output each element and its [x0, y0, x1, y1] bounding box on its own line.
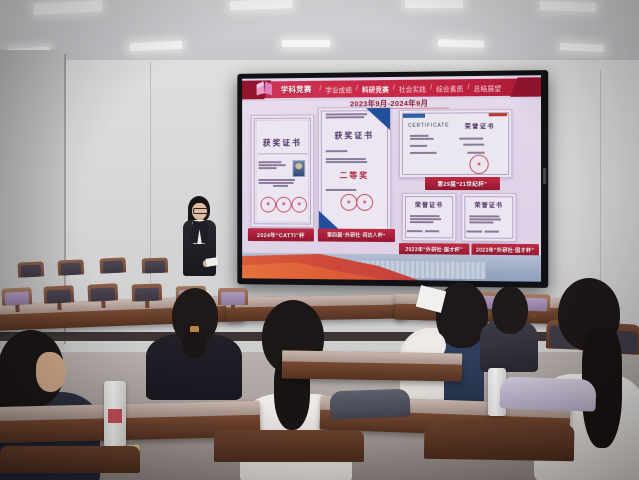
audience-member — [146, 288, 242, 398]
certificate-card: 获奖证书 二等奖 — [318, 107, 391, 234]
nav-separator: / — [319, 86, 321, 93]
certificate-card: 荣誉证书 — [402, 193, 456, 241]
ceiling-light — [560, 43, 604, 52]
wall-seam — [600, 70, 601, 290]
display-power-button[interactable] — [543, 168, 546, 184]
auditorium-chair[interactable] — [142, 258, 169, 280]
backpack — [330, 389, 411, 420]
ceiling-light — [282, 40, 330, 47]
official-seal — [356, 194, 373, 211]
display-panel: 学科竞赛 / 学业成绩 / 科研竞赛 / 社会实践 / 综合素质 / 总结展望 … — [242, 75, 541, 282]
wooden-chair[interactable] — [214, 430, 364, 480]
slide-nav: 学科竞赛 / 学业成绩 / 科研竞赛 / 社会实践 / 综合素质 / 总结展望 — [281, 80, 517, 97]
audience-member — [400, 290, 492, 410]
certificate-card: 荣誉证书 — [461, 193, 516, 242]
water-bottle[interactable] — [104, 381, 126, 447]
screenshot-root: 学科竞赛 / 学业成绩 / 科研竞赛 / 社会实践 / 综合素质 / 总结展望 … — [0, 0, 639, 480]
certificate-title-en: CERTIFICATE — [408, 123, 449, 129]
nav-item-quality[interactable]: 综合素质 — [436, 83, 463, 93]
official-seal — [260, 197, 275, 213]
ceiling-light — [34, 0, 102, 15]
audience-hair — [182, 332, 206, 358]
nav-separator: / — [430, 85, 432, 92]
nav-separator: / — [468, 84, 470, 91]
wooden-chair[interactable] — [0, 446, 140, 480]
auditorium-chair[interactable] — [57, 259, 84, 281]
handout-paper — [416, 285, 447, 313]
official-seal — [340, 194, 357, 211]
ceiling-light — [230, 0, 292, 10]
slide-footer-image — [242, 253, 541, 282]
auditorium-chair[interactable] — [43, 285, 74, 311]
audience-face — [36, 352, 66, 392]
certificate-portrait — [292, 160, 305, 177]
caption-banner: 2024年“CATTI”杯 — [248, 228, 314, 241]
nav-item-academic[interactable]: 学业成绩 — [325, 84, 352, 94]
nav-main-title: 学科竞赛 — [281, 84, 316, 95]
ceiling-light — [540, 1, 596, 12]
glasses-icon — [193, 208, 208, 214]
auditorium-chair[interactable] — [99, 257, 126, 279]
presenter — [182, 196, 222, 288]
certificate-title-cn: 荣誉证书 — [465, 121, 495, 130]
nav-separator: / — [393, 85, 395, 92]
caption-banner: 第29届“21世纪杯” — [425, 177, 500, 190]
book-icon — [255, 80, 274, 97]
nav-item-outlook[interactable]: 总结展望 — [474, 82, 502, 92]
auditorium-chair[interactable] — [87, 283, 118, 309]
ceiling-light — [438, 39, 484, 48]
ceiling-light — [130, 41, 182, 52]
auditorium-chair[interactable] — [1, 287, 32, 313]
wooden-chair[interactable] — [424, 423, 575, 480]
presentation-display[interactable]: 学科竞赛 / 学业成绩 / 科研竞赛 / 社会实践 / 综合素质 / 总结展望 … — [237, 70, 548, 288]
folded-garment — [499, 376, 596, 411]
caption-banner: 第四届“外研社·词达人杯” — [318, 229, 395, 242]
desk-row — [282, 350, 462, 381]
official-seal — [292, 197, 308, 213]
bottle-label — [108, 409, 122, 424]
audience-hair — [492, 286, 528, 334]
certificate-card: 获奖证书 — [251, 115, 314, 228]
nav-item-research[interactable]: 科研竞赛 — [362, 84, 389, 94]
certificate-card: CERTIFICATE 荣誉证书 — [399, 109, 512, 178]
ceiling-light — [405, 0, 463, 8]
nav-item-social[interactable]: 社会实践 — [399, 83, 426, 93]
official-seal — [276, 197, 292, 213]
nav-separator: / — [356, 85, 358, 92]
slide-content: 学科竞赛 / 学业成绩 / 科研竞赛 / 社会实践 / 综合素质 / 总结展望 … — [242, 75, 541, 282]
handout-paper — [206, 257, 219, 267]
official-seal — [469, 155, 488, 174]
auditorium-chair[interactable] — [17, 261, 44, 283]
audience-member — [480, 286, 542, 364]
